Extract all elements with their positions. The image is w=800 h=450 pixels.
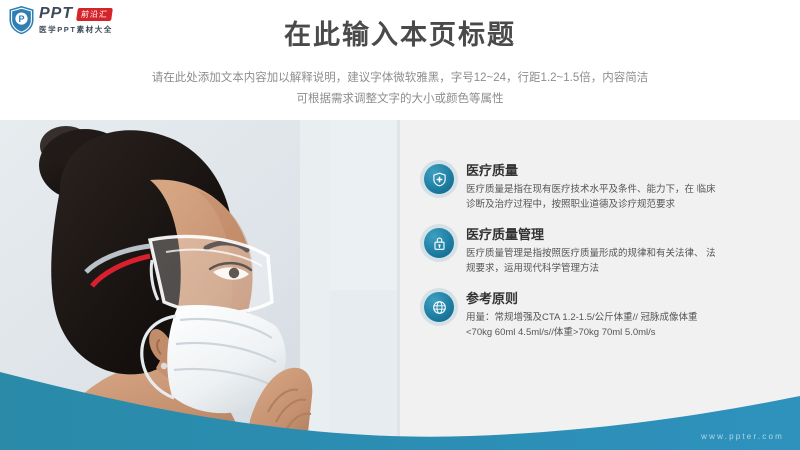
globe-icon — [424, 292, 454, 322]
slide-header: P PPT 前沿汇 医学PPT素材大全 在此输入本页标题 请在此处添加文本内容加… — [0, 0, 800, 120]
page-subtitle: 请在此处添加文本内容加以解释说明，建议字体微软雅黑，字号12~24，行距1.2~… — [0, 68, 800, 110]
content-block-body-line: 医疗质量管理是指按照医疗质量形成的规律和有关法律、 法 — [466, 246, 784, 261]
medical-shield-icon — [424, 164, 454, 194]
content-block-title: 医疗质量管理 — [466, 226, 784, 243]
content-block[interactable]: 医疗质量 医疗质量是指在现有医疗技术水平及条件、能力下，在 临床 诊断及治疗过程… — [424, 162, 784, 212]
content-block-body-line: 用量：常规增强及CTA 1.2-1.5/公斤体重// 冠脉成像体重 — [466, 310, 784, 325]
page-title: 在此输入本页标题 — [0, 18, 800, 52]
content-block-body: 用量：常规增强及CTA 1.2-1.5/公斤体重// 冠脉成像体重 <70kg … — [466, 310, 784, 340]
bottom-wave-decoration — [0, 350, 800, 450]
slide-root: P PPT 前沿汇 医学PPT素材大全 在此输入本页标题 请在此处添加文本内容加… — [0, 0, 800, 450]
content-block-body-line: 诊断及治疗过程中，按照职业道德及诊疗规范要求 — [466, 197, 784, 212]
site-watermark: www.ppter.com — [701, 432, 784, 441]
content-block-body: 医疗质量是指在现有医疗技术水平及条件、能力下，在 临床 诊断及治疗过程中，按照职… — [466, 182, 784, 212]
page-subtitle-line-2: 可根据需求调整文字的大小或颜色等属性 — [0, 89, 800, 110]
content-block-list: 医疗质量 医疗质量是指在现有医疗技术水平及条件、能力下，在 临床 诊断及治疗过程… — [424, 162, 784, 354]
content-block-body-line: 规要求，运用现代科学管理方法 — [466, 261, 784, 276]
content-block-title: 医疗质量 — [466, 162, 784, 179]
content-block-body-line: 医疗质量是指在现有医疗技术水平及条件、能力下，在 临床 — [466, 182, 784, 197]
content-block[interactable]: 医疗质量管理 医疗质量管理是指按照医疗质量形成的规律和有关法律、 法 规要求，运… — [424, 226, 784, 276]
content-block-body-line: <70kg 60ml 4.5ml/s//体重>70kg 70ml 5.0ml/s — [466, 325, 784, 340]
content-block-body: 医疗质量管理是指按照医疗质量形成的规律和有关法律、 法 规要求，运用现代科学管理… — [466, 246, 784, 276]
page-subtitle-line-1: 请在此处添加文本内容加以解释说明，建议字体微软雅黑，字号12~24，行距1.2~… — [0, 68, 800, 89]
content-block[interactable]: 参考原则 用量：常规增强及CTA 1.2-1.5/公斤体重// 冠脉成像体重 <… — [424, 290, 784, 340]
lock-icon — [424, 228, 454, 258]
content-block-title: 参考原则 — [466, 290, 784, 307]
